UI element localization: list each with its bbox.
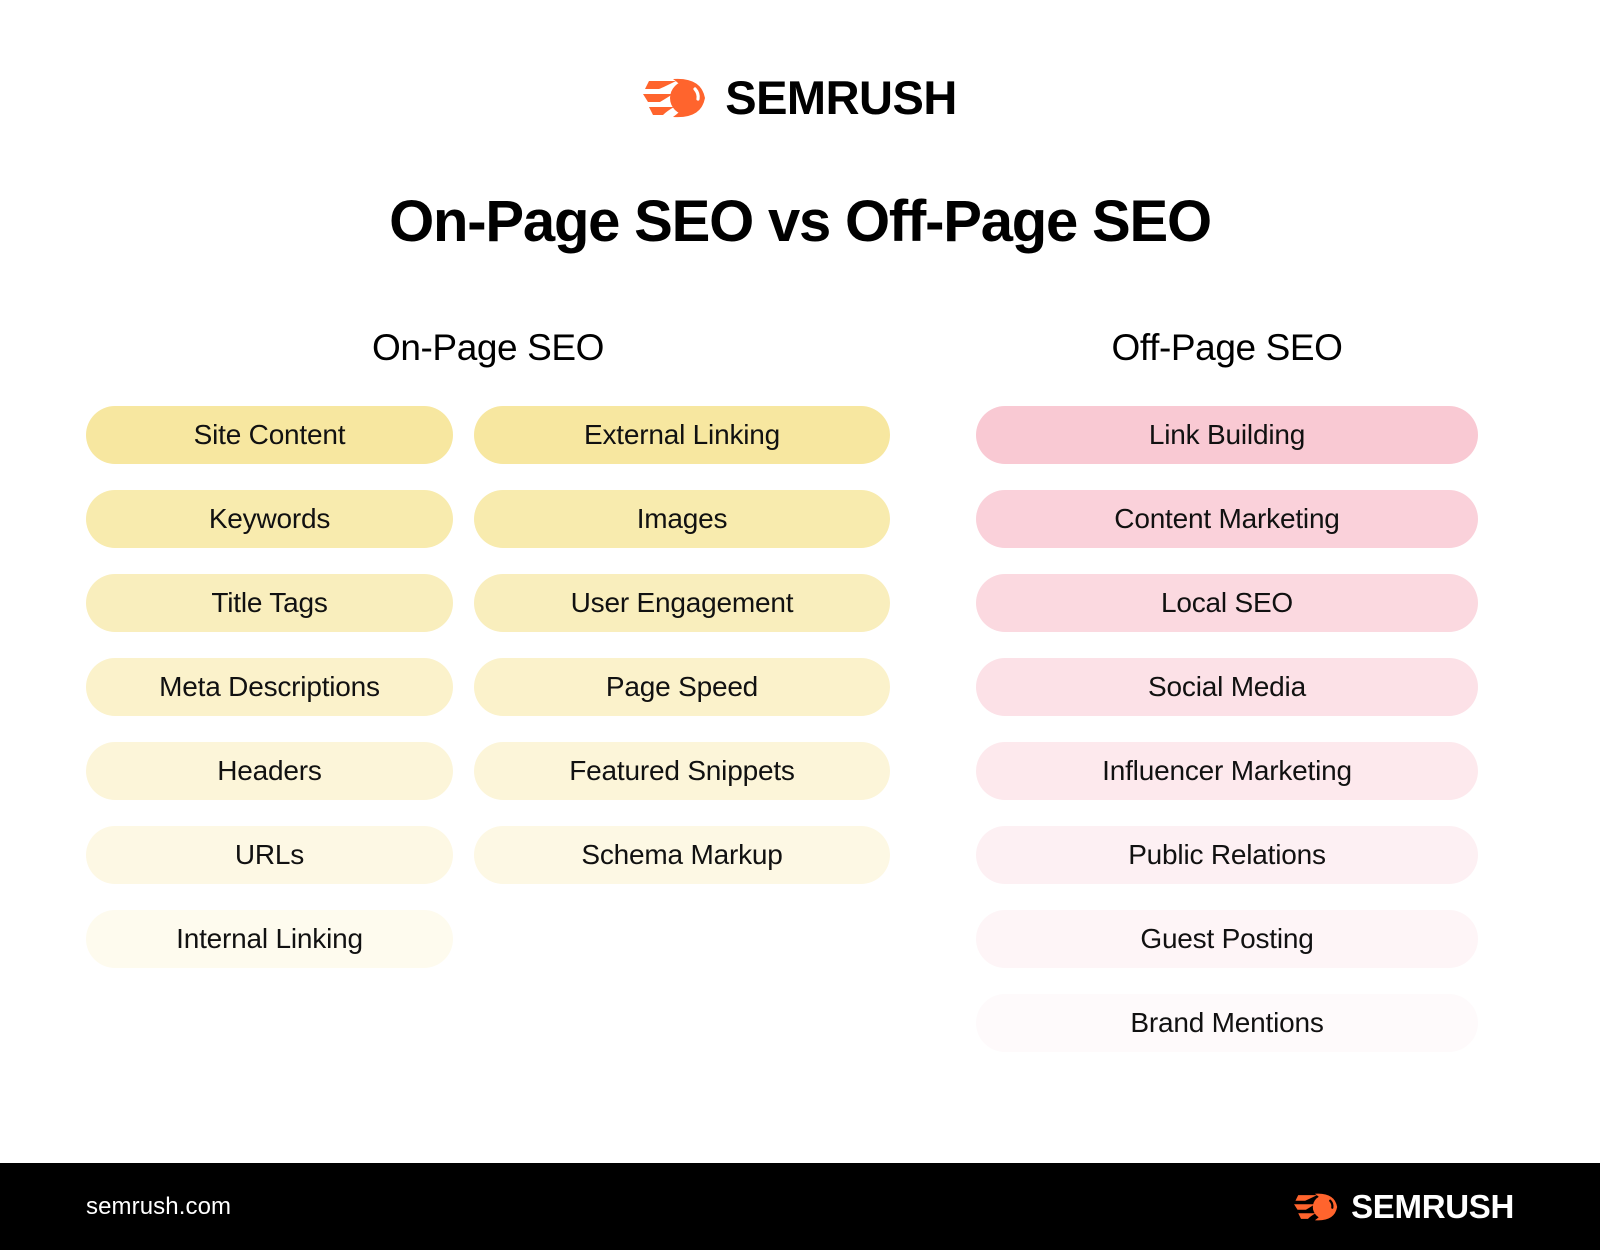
off-page-item-pill[interactable]: Influencer Marketing [976, 742, 1478, 800]
off-page-item-pill[interactable]: Local SEO [976, 574, 1478, 632]
on-page-item-pill[interactable]: Images [474, 490, 890, 548]
off-page-item-pill[interactable]: Guest Posting [976, 910, 1478, 968]
off-page-item-pill[interactable]: Brand Mentions [976, 994, 1478, 1052]
on-page-item-pill[interactable]: Schema Markup [474, 826, 890, 884]
on-page-item-pill[interactable]: User Engagement [474, 574, 890, 632]
page-title: On-Page SEO vs Off-Page SEO [0, 192, 1600, 253]
off-page-item-pill[interactable]: Content Marketing [976, 490, 1478, 548]
section-heading-off-page: Off-Page SEO [976, 326, 1478, 370]
off-page-column: Link BuildingContent MarketingLocal SEOS… [976, 406, 1478, 1052]
on-page-item-pill[interactable]: Page Speed [474, 658, 890, 716]
on-page-item-pill[interactable]: URLs [86, 826, 453, 884]
semrush-comet-icon [643, 75, 709, 121]
section-heading-on-page: On-Page SEO [86, 326, 890, 370]
brand-wordmark: SEMRUSH [725, 74, 957, 121]
on-page-item-pill[interactable]: Internal Linking [86, 910, 453, 968]
footer-url[interactable]: semrush.com [86, 1195, 231, 1219]
footer-bar: semrush.com SEMRUSH [0, 1163, 1600, 1250]
off-page-item-pill[interactable]: Link Building [976, 406, 1478, 464]
on-page-item-pill[interactable]: External Linking [474, 406, 890, 464]
on-page-item-pill[interactable]: Meta Descriptions [86, 658, 453, 716]
on-page-item-pill[interactable]: Featured Snippets [474, 742, 890, 800]
on-page-item-pill[interactable]: Site Content [86, 406, 453, 464]
footer-brand-wordmark: SEMRUSH [1351, 1190, 1514, 1223]
semrush-comet-icon [1294, 1191, 1340, 1223]
header-logo: SEMRUSH [0, 74, 1600, 121]
off-page-item-pill[interactable]: Social Media [976, 658, 1478, 716]
off-page-item-pill[interactable]: Public Relations [976, 826, 1478, 884]
footer-logo: SEMRUSH [1294, 1190, 1514, 1223]
on-page-item-pill[interactable]: Title Tags [86, 574, 453, 632]
on-page-item-pill[interactable]: Keywords [86, 490, 453, 548]
on-page-item-pill[interactable]: Headers [86, 742, 453, 800]
on-page-column-2: External LinkingImagesUser EngagementPag… [474, 406, 890, 884]
on-page-column-1: Site ContentKeywordsTitle TagsMeta Descr… [86, 406, 453, 968]
